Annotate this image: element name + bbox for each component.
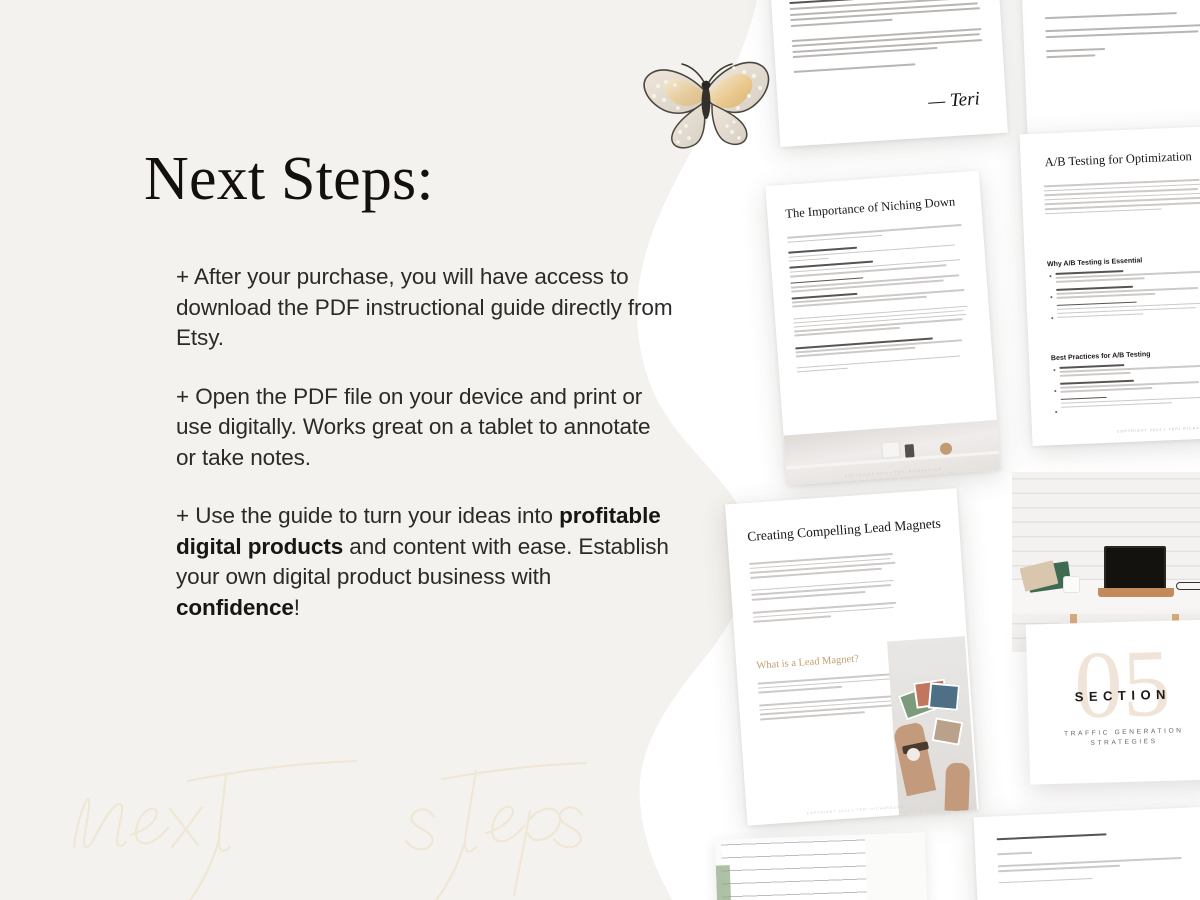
niching-down-title: The Importance of Niching Down xyxy=(785,194,956,221)
grid-notebook-image xyxy=(715,832,927,900)
paragraph-purchase-access: + After your purchase, you will have acc… xyxy=(176,262,676,354)
ab-testing-footer: COPYRIGHT 2024 | TERI RICHARDSON xyxy=(1117,425,1200,433)
letter-signature: — Teri xyxy=(928,88,981,113)
ab-testing-title: A/B Testing for Optimization xyxy=(1044,149,1192,170)
lead-magnets-title: Creating Compelling Lead Magnets xyxy=(747,516,941,545)
paragraph-use-guide: + Use the guide to turn your ideas into … xyxy=(176,501,676,623)
paragraph-open-print: + Open the PDF file on your device and p… xyxy=(176,382,676,474)
body-copy: + After your purchase, you will have acc… xyxy=(176,262,676,623)
slide-canvas: Next Steps: + After your purchase, you w… xyxy=(0,0,1200,900)
thank-you-note-page xyxy=(1021,0,1200,134)
closing-letter-page: — Teri xyxy=(768,0,1008,147)
ab-testing-section-heading: Why A/B Testing is Essential xyxy=(1047,257,1143,268)
lead-magnets-footer: COPYRIGHT 2024 | TERI RICHARDSON xyxy=(807,805,904,816)
niching-down-page: The Importance of Niching Down xyxy=(765,171,1000,486)
section-divider-card: 05 SECTION TRAFFIC GENERATION STRATEGIES xyxy=(1026,619,1200,784)
hands-holding-photos-image xyxy=(887,636,977,815)
ab-testing-page: A/B Testing for Optimization Why A/B Tes… xyxy=(1020,126,1200,446)
paragraph-text: + Use the guide to turn your ideas into xyxy=(176,503,559,528)
ab-testing-section-heading-2: Best Practices for A/B Testing xyxy=(1051,351,1151,362)
section-number: 05 xyxy=(1073,635,1172,734)
butterfly-icon xyxy=(634,52,774,160)
paragraph-text: + After your purchase, you will have acc… xyxy=(176,264,673,350)
paragraph-text: ! xyxy=(294,595,300,620)
lead-magnets-subheading: What is a Lead Magnet? xyxy=(756,654,859,672)
paragraph-text: + Open the PDF file on your device and p… xyxy=(176,384,650,470)
email-template-page xyxy=(974,807,1200,900)
lead-magnets-page: Creating Compelling Lead Magnets What is… xyxy=(725,488,979,825)
section-label: SECTION xyxy=(1074,687,1171,705)
page-title: Next Steps: xyxy=(144,148,434,210)
section-description: TRAFFIC GENERATION STRATEGIES xyxy=(1039,726,1200,751)
emphasis-confidence: confidence xyxy=(176,595,294,620)
